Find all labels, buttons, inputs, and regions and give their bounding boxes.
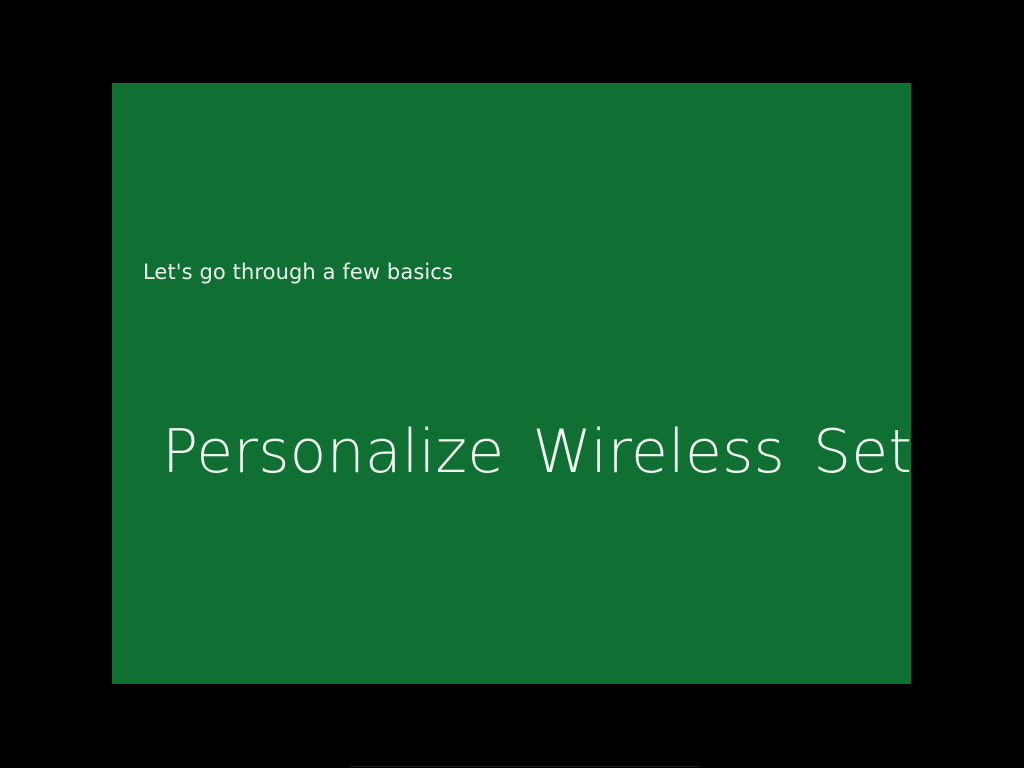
setup-subtitle: Let's go through a few basics bbox=[143, 258, 453, 286]
setup-stage-personalize: Personalize bbox=[162, 416, 504, 488]
bottom-progress-hairline bbox=[350, 766, 700, 767]
oobe-setup-panel: Let's go through a few basics Personaliz… bbox=[112, 83, 911, 684]
setup-stage-wireless: Wireless bbox=[532, 416, 785, 488]
setup-stage-list: Personalize Wireless Settings L bbox=[162, 416, 911, 488]
setup-stage-settings: Settings bbox=[813, 416, 911, 488]
